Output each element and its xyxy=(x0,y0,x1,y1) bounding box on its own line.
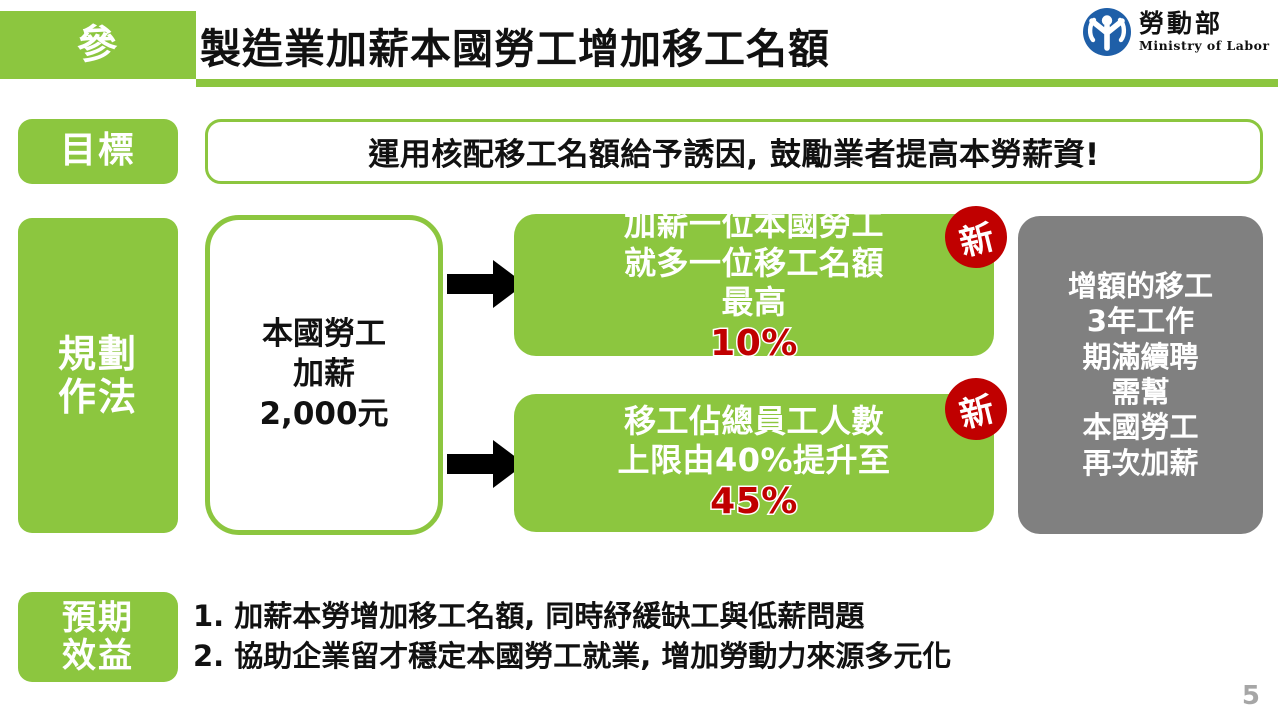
plan-note-line6: 再次加薪 xyxy=(1082,446,1198,481)
plan-card-1-line3-prefix: 最高 xyxy=(710,283,798,322)
header-underline xyxy=(196,79,1278,87)
plan-card-1: 加薪一位本國勞工 就多一位移工名額 最高 10% xyxy=(514,214,994,356)
benefit-label-badge: 預期 效益 xyxy=(18,592,178,682)
new-badge-label: 新 xyxy=(954,381,999,437)
list-item: 1. 加薪本勞增加移工名額, 同時紓緩缺工與低薪問題 xyxy=(193,598,1253,636)
plan-note-line4: 需幫 xyxy=(1111,375,1169,410)
benefit-item-number: 1. xyxy=(193,598,224,636)
goal-label-text: 目標 xyxy=(60,131,136,171)
slide: 參 製造業加薪本國勞工增加移工名額 勞動部 Ministry of Labor … xyxy=(0,0,1278,717)
plan-note-line5: 本國勞工 xyxy=(1082,410,1198,445)
benefit-item-text: 加薪本勞增加移工名額, 同時紓緩缺工與低薪問題 xyxy=(234,598,864,636)
plan-card-1-line1: 加薪一位本國勞工 xyxy=(624,205,884,244)
plan-label-line1: 規劃 xyxy=(58,333,138,376)
plan-label-badge: 規劃 作法 xyxy=(18,218,178,533)
ministry-logo: 勞動部 Ministry of Labor xyxy=(1082,2,1272,62)
goal-label-badge: 目標 xyxy=(18,119,178,184)
benefit-label-line1: 預期 xyxy=(62,599,134,637)
plan-card-2-highlight-value: 45% xyxy=(617,480,890,524)
plan-card-2-line2: 上限由40%提升至 45% xyxy=(617,441,890,524)
benefit-label-line2: 效益 xyxy=(62,637,134,675)
plan-note-line3: 期滿續聘 xyxy=(1082,340,1198,375)
plan-source-line1: 本國勞工 xyxy=(262,315,386,355)
plan-card-1-line3: 最高 10% xyxy=(710,283,798,366)
plan-source-line2: 加薪 xyxy=(293,355,355,395)
benefit-list: 1. 加薪本勞增加移工名額, 同時紓緩缺工與低薪問題 2. 協助企業留才穩定本國… xyxy=(193,592,1253,682)
page-title: 製造業加薪本國勞工增加移工名額 xyxy=(200,11,830,79)
benefit-item-number: 2. xyxy=(193,638,224,676)
plan-condition-note: 增額的移工 3年工作 期滿續聘 需幫 本國勞工 再次加薪 xyxy=(1018,216,1263,534)
plan-source-line3: 2,000元 xyxy=(259,395,388,435)
plan-card-1-highlight-value: 10% xyxy=(710,322,798,366)
plan-card-2-line2-prefix: 上限由40%提升至 xyxy=(617,441,890,480)
logo-name-zh: 勞動部 xyxy=(1139,11,1223,36)
list-item: 2. 協助企業留才穩定本國勞工就業, 增加勞動力來源多元化 xyxy=(193,638,1253,676)
plan-source-box: 本國勞工 加薪 2,000元 xyxy=(205,215,443,535)
ministry-of-labor-emblem-icon xyxy=(1082,7,1132,57)
page-number: 5 xyxy=(1242,681,1260,711)
section-number: 參 xyxy=(0,11,196,79)
goal-statement-text: 運用核配移工名額給予誘因, 鼓勵業者提高本勞薪資! xyxy=(368,129,1099,174)
plan-card-2: 移工佔總員工人數 上限由40%提升至 45% xyxy=(514,394,994,532)
logo-wordmark: 勞動部 Ministry of Labor xyxy=(1139,11,1270,53)
plan-note-line1: 增額的移工 xyxy=(1068,269,1213,304)
plan-card-1-line2: 就多一位移工名額 xyxy=(624,244,884,283)
new-badge-label: 新 xyxy=(954,209,999,265)
plan-label-line2: 作法 xyxy=(58,376,138,419)
plan-note-line2: 3年工作 xyxy=(1087,304,1194,339)
logo-name-en: Ministry of Labor xyxy=(1139,40,1270,53)
goal-statement-box: 運用核配移工名額給予誘因, 鼓勵業者提高本勞薪資! xyxy=(205,119,1263,184)
plan-card-2-line1: 移工佔總員工人數 xyxy=(624,402,884,441)
benefit-item-text: 協助企業留才穩定本國勞工就業, 增加勞動力來源多元化 xyxy=(234,638,951,676)
